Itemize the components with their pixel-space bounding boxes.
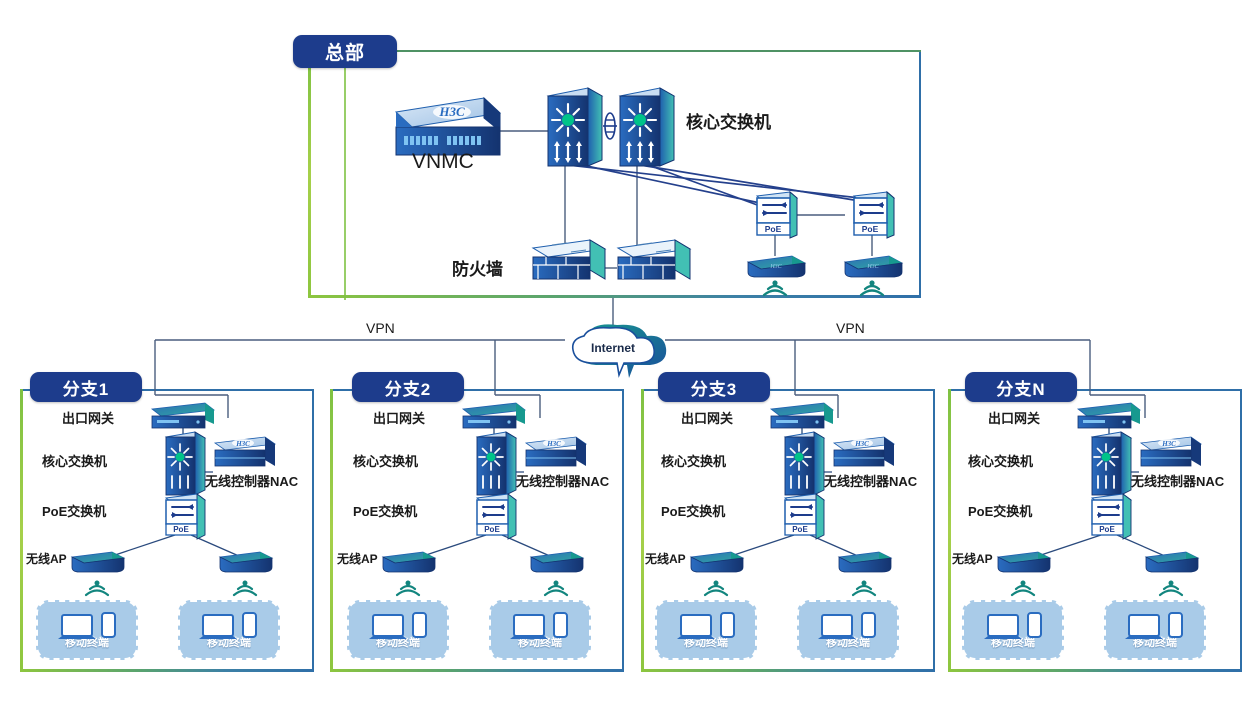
terminal-group-label: 移动终端 (38, 634, 136, 650)
terminal-group-box: 移动终端 (489, 600, 591, 660)
network-topology-diagram: 总部 分支1 分支2 分支3 分支N H3C (0, 0, 1258, 720)
terminal-group-box: 移动终端 (36, 600, 138, 660)
hq-firewall-label: 防火墙 (452, 255, 503, 280)
branch-3-ap-label: 无线AP (645, 550, 686, 567)
terminal-group-box: 移动终端 (1104, 600, 1206, 660)
branch-title-2: 分支2 (352, 372, 464, 402)
branch-4-core-switch-label: 核心交换机 (968, 451, 1033, 470)
branch-4-poe-switch-label: PoE交换机 (968, 501, 1032, 520)
branch-title-1: 分支1 (30, 372, 142, 402)
branch-1-nac-label: 无线控制器NAC (205, 471, 298, 490)
branch-title-4: 分支N (965, 372, 1077, 402)
terminal-group-label: 移动终端 (491, 634, 589, 650)
internet-cloud-icon: Internet (573, 324, 666, 378)
headquarters-title: 总部 (293, 35, 397, 68)
branch-3-core-switch-label: 核心交换机 (661, 451, 726, 470)
terminal-group-label: 移动终端 (180, 634, 278, 650)
branch-4-gateway-label: 出口网关 (988, 408, 1040, 427)
branch-2-nac-label: 无线控制器NAC (516, 471, 609, 490)
branch-4-ap-label: 无线AP (952, 550, 993, 567)
branch-1-core-switch-label: 核心交换机 (42, 451, 107, 470)
branch-2-ap-label: 无线AP (337, 550, 378, 567)
terminal-group-label: 移动终端 (964, 634, 1062, 650)
branch-3-gateway-label: 出口网关 (681, 408, 733, 427)
terminal-group-box: 移动终端 (797, 600, 899, 660)
branch-1-poe-switch-label: PoE交换机 (42, 501, 106, 520)
vpn-label-right: VPN (836, 320, 865, 336)
terminal-group-box: 移动终端 (347, 600, 449, 660)
branch-3-nac-label: 无线控制器NAC (824, 471, 917, 490)
branch-4-nac-label: 无线控制器NAC (1131, 471, 1224, 490)
branch-3-poe-switch-label: PoE交换机 (661, 501, 725, 520)
branch-2-core-switch-label: 核心交换机 (353, 451, 418, 470)
terminal-group-label: 移动终端 (349, 634, 447, 650)
terminal-group-label: 移动终端 (657, 634, 755, 650)
branch-1-gateway-label: 出口网关 (62, 408, 114, 427)
terminal-group-label: 移动终端 (1106, 634, 1204, 650)
branch-2-gateway-label: 出口网关 (373, 408, 425, 427)
vnmc-label: VNMC (412, 150, 474, 174)
branch-2-poe-switch-label: PoE交换机 (353, 501, 417, 520)
terminal-group-box: 移动终端 (962, 600, 1064, 660)
internet-label-text: Internet (591, 341, 635, 355)
terminal-group-label: 移动终端 (799, 634, 897, 650)
terminal-group-box: 移动终端 (178, 600, 280, 660)
terminal-group-box: 移动终端 (655, 600, 757, 660)
vpn-label-left: VPN (366, 320, 395, 336)
hq-core-switch-label: 核心交换机 (686, 108, 771, 133)
headquarters-zone (308, 50, 921, 298)
branch-title-3: 分支3 (658, 372, 770, 402)
branch-1-ap-label: 无线AP (26, 550, 67, 567)
